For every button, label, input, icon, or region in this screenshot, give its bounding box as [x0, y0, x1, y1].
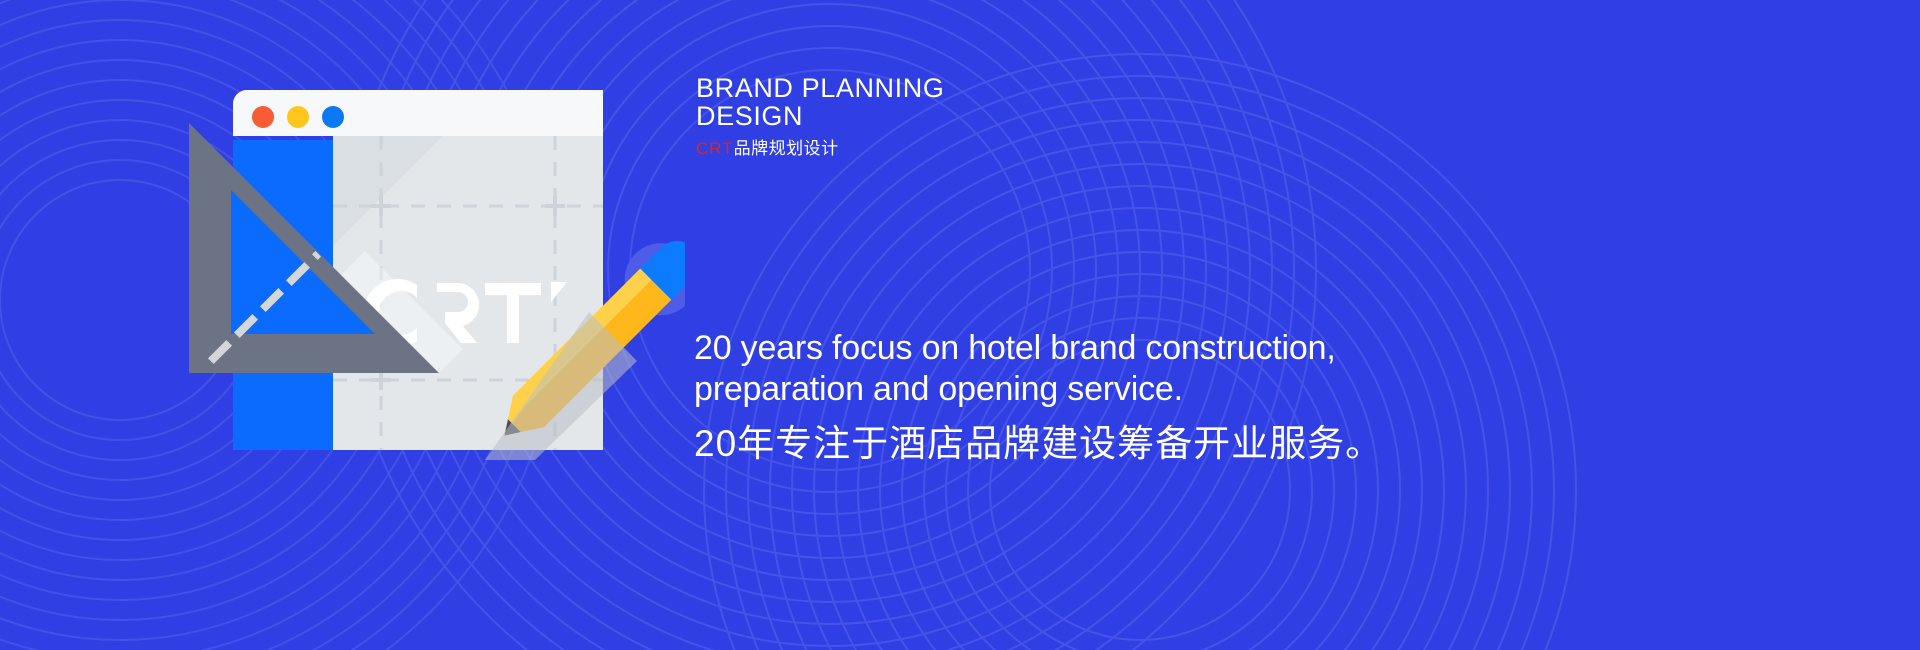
eyebrow-subtitle-cn: 品牌规划设计	[734, 139, 839, 158]
promo-banner: BRAND PLANNING DESIGN CRT品牌规划设计 20 years…	[0, 0, 1920, 650]
browser-window-bar	[233, 90, 603, 136]
eyebrow-title-line1: BRAND PLANNING	[696, 74, 1216, 102]
window-dot-blue-icon	[322, 106, 344, 128]
headline-english: 20 years focus on hotel brand constructi…	[694, 328, 1834, 410]
banner-headline-block: 20 years focus on hotel brand constructi…	[694, 328, 1834, 466]
eyebrow-title-line2: DESIGN	[696, 102, 1216, 130]
brand-design-illustration	[185, 80, 685, 460]
window-dot-yellow-icon	[287, 106, 309, 128]
window-dot-red-icon	[252, 106, 274, 128]
eyebrow-subtitle: CRT品牌规划设计	[696, 139, 1216, 159]
headline-chinese: 20年专注于酒店品牌建设筹备开业服务。	[694, 422, 1834, 466]
banner-eyebrow-block: BRAND PLANNING DESIGN CRT品牌规划设计	[696, 74, 1216, 159]
eyebrow-brand-name: CRT	[696, 139, 734, 158]
